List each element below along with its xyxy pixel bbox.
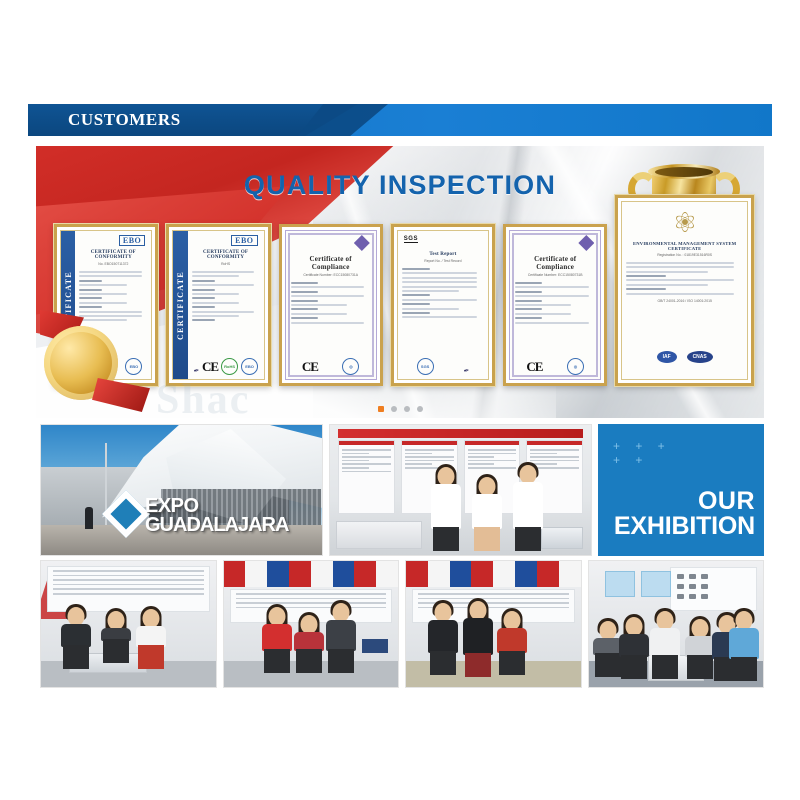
person-figure (687, 619, 713, 679)
rohs-seal-icon: RoHS (221, 358, 238, 375)
sgs-seal-icon: SGS (417, 358, 434, 375)
gallery-bottom-row (40, 560, 764, 688)
person-figure (295, 615, 323, 673)
person-figure (325, 603, 357, 673)
certificate-subheading: No. EBO150711372 (79, 262, 147, 266)
person-figure (651, 611, 679, 679)
certificate-side-band: CERTIFICATE (173, 231, 187, 379)
certificate-heading: ENVIRONMENTAL MANAGEMENT SYSTEM CERTIFIC… (626, 241, 743, 251)
ebo-seal-icon: EBO (125, 358, 142, 375)
certificate-heading: Certificate of Compliance (291, 255, 371, 271)
certificate-side-label: CERTIFICATE (176, 271, 185, 340)
certificate-body-text (79, 271, 147, 321)
person-figure (468, 477, 506, 551)
diamond-crest-icon (354, 235, 370, 251)
person-figure (262, 607, 292, 673)
person-figure (729, 611, 759, 681)
certificate-body-text (402, 268, 484, 318)
certificate-card[interactable]: Certificate of Compliance Certificate Nu… (503, 224, 607, 386)
ce-mark-icon: CE (302, 359, 318, 375)
crowded-booth-photo[interactable] (588, 560, 765, 688)
section-header-bar: CUSTOMERS (28, 104, 772, 136)
our-exhibition-text: OUR EXHIBITION (614, 489, 755, 539)
gallery-middle-row: EXPO GUADALAJARA (40, 424, 764, 556)
meeting-at-booth-photo[interactable] (40, 560, 217, 688)
certificate-standard: GB/T 24001-2016 / ISO 14001:2015 (626, 299, 743, 303)
plus-marks-icon: + + ++ + (613, 439, 671, 467)
ebo-seal-icon: EBO (241, 358, 258, 375)
atom-logo-icon (675, 212, 695, 232)
trade-show-booth-photo[interactable] (329, 424, 592, 556)
certificate-subheading: Certificate Number: ECC15080731A (291, 273, 371, 277)
expo-guadalajara-photo[interactable]: EXPO GUADALAJARA (40, 424, 323, 556)
certificate-heading: CERTIFICATE OF CONFORMITY (192, 250, 260, 260)
certificate-subheading: Report No. / Test Record (402, 259, 484, 263)
person-figure (428, 603, 458, 675)
certification-seal-icon: ◎ (342, 358, 359, 375)
carousel-dot[interactable] (404, 406, 410, 412)
carousel-dots[interactable] (36, 406, 764, 412)
expo-line-1: EXPO (145, 497, 288, 516)
diamond-crest-icon (578, 235, 594, 251)
certificate-subheading: Registration No. : 01819E31516R0S (626, 253, 743, 257)
certificate-heading: Test Report (402, 252, 484, 257)
certificate-signature: ✒ (193, 367, 200, 376)
expo-signage-text: EXPO GUADALAJARA (145, 497, 288, 535)
our-exhibition-line-2: EXHIBITION (614, 514, 755, 539)
quality-inspection-banner: QUALITY INSPECTION CERTIFICATE EBO CERTI… (36, 146, 764, 418)
certificate-card[interactable]: ENVIRONMENTAL MANAGEMENT SYSTEM CERTIFIC… (615, 195, 754, 386)
person-figure (621, 617, 647, 679)
booth-visitors-photo-1[interactable] (223, 560, 400, 688)
ebo-logo-icon: EBO (231, 235, 257, 246)
certificate-subheading: RoHS (192, 262, 260, 266)
ce-mark-icon: CE (526, 359, 542, 375)
ce-mark-icon: CE (202, 359, 218, 375)
page-root: CUSTOMERS QUALITY INSPECTION CERTIFICATE (0, 0, 800, 800)
certificate-card[interactable]: CERTIFICATE EBO CERTIFICATE OF CONFORMIT… (166, 224, 270, 386)
certificate-heading: Certificate of Compliance (515, 255, 595, 271)
certificate-body-text (192, 271, 260, 321)
our-exhibition-panel: + + ++ + OUR EXHIBITION (598, 424, 764, 556)
accreditation-logos: IAF CNAS (622, 351, 747, 363)
ebo-logo-icon: EBO (119, 235, 145, 246)
carousel-dot[interactable] (417, 406, 423, 412)
booth-visitors-photo-2[interactable] (405, 560, 582, 688)
certification-seal-icon: ◎ (567, 358, 584, 375)
certificate-body-text (291, 282, 371, 324)
person-figure (101, 611, 131, 663)
flag-bunting-icon (224, 561, 399, 587)
our-exhibition-line-1: OUR (614, 489, 755, 514)
certificate-subheading: Certificate Number: ECC15080731B (515, 273, 595, 277)
carousel-dot[interactable] (391, 406, 397, 412)
product-display-shelf (670, 567, 757, 611)
person-figure (426, 467, 466, 551)
expo-line-2: GUADALAJARA (145, 516, 288, 535)
certificate-heading: CERTIFICATE OF CONFORMITY (79, 250, 147, 260)
certificate-body-text (626, 262, 743, 295)
certificate-card[interactable]: SGS Test Report Report No. / Test Record (391, 224, 495, 386)
certificate-signature: ✒ (463, 367, 470, 376)
person-figure (498, 611, 526, 675)
person-figure (133, 609, 169, 669)
cnas-logo-icon: CNAS (687, 351, 713, 363)
person-figure (506, 465, 550, 551)
person-figure (595, 621, 621, 677)
iaf-logo-icon: IAF (657, 351, 677, 363)
carousel-dot-active[interactable] (378, 406, 384, 412)
flag-bunting-icon (406, 561, 581, 587)
certificate-body-text (515, 282, 595, 324)
section-title: CUSTOMERS (68, 110, 181, 130)
person-figure (462, 601, 494, 677)
person-figure (59, 607, 93, 669)
certificate-carousel[interactable]: CERTIFICATE EBO CERTIFICATE OF CONFORMIT… (54, 224, 754, 386)
sgs-logo-icon: SGS (404, 236, 418, 243)
certificate-card[interactable]: Certificate of Compliance Certificate Nu… (279, 224, 383, 386)
